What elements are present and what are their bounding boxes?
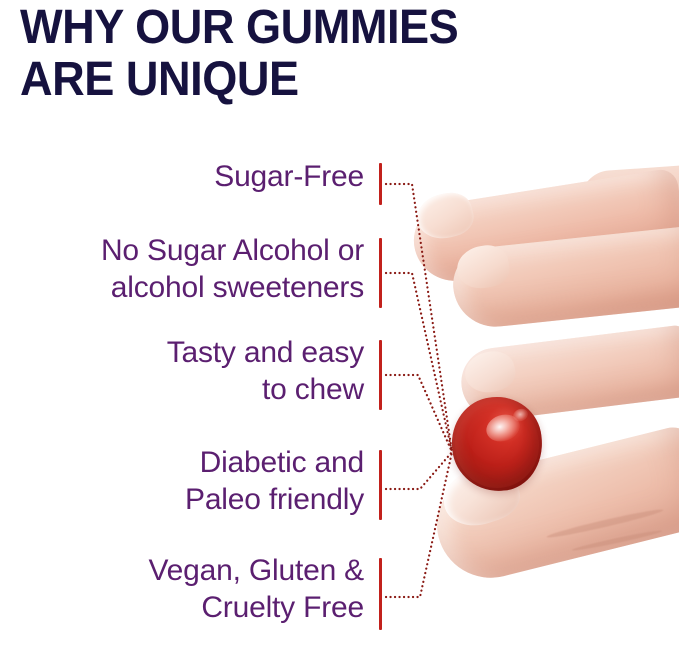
- accent-bar-no-sugar-alcohol: [379, 238, 382, 308]
- accent-bar-vegan-gluten-cruelty-free: [379, 558, 382, 630]
- accent-bar-tasty-easy-chew: [379, 340, 382, 410]
- page-title: WHY OUR GUMMIES ARE UNIQUE: [20, 2, 622, 106]
- feature-item-vegan-gluten-cruelty-free: Vegan, Gluten & Cruelty Free: [0, 552, 372, 626]
- hand-holding-gummy-photo: [395, 120, 679, 647]
- promo-graphic: WHY OUR GUMMIES ARE UNIQUE Sugar-Free No…: [0, 0, 679, 647]
- accent-bar-diabetic-paleo: [379, 450, 382, 520]
- feature-item-diabetic-paleo: Diabetic and Paleo friendly: [0, 444, 372, 518]
- accent-bar-sugar-free: [379, 163, 382, 205]
- feature-item-tasty-easy-chew: Tasty and easy to chew: [0, 334, 372, 408]
- feature-item-sugar-free: Sugar-Free: [0, 158, 372, 195]
- feature-item-no-sugar-alcohol: No Sugar Alcohol or alcohol sweeteners: [0, 232, 372, 306]
